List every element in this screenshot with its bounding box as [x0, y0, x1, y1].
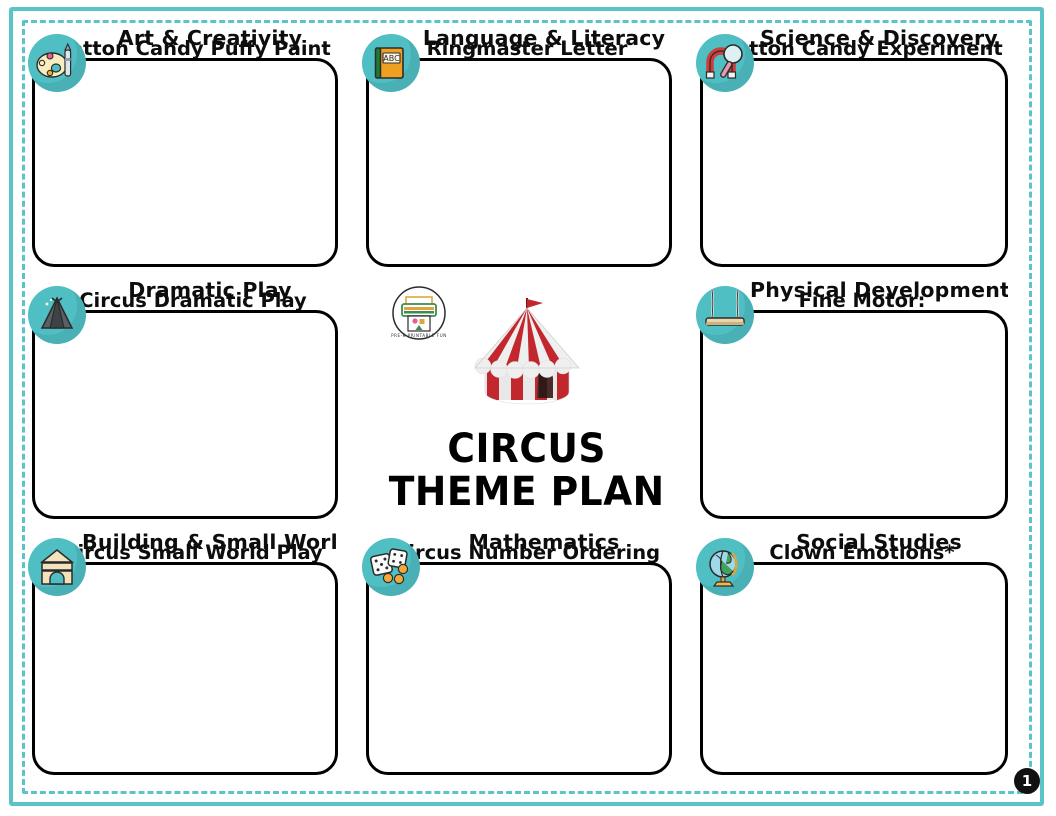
- card-frame: [32, 58, 338, 267]
- svg-text:ABC: ABC: [383, 54, 400, 63]
- card-mathematics[interactable]: Mathematics: [360, 532, 694, 788]
- card-building-small-world-play[interactable]: Building & Small World Play Circus Small…: [26, 532, 360, 788]
- card-title: Language & Literacy: [416, 26, 672, 50]
- circus-tent-icon: [461, 290, 593, 416]
- card-frame: [366, 562, 672, 775]
- page-number-badge: 1: [1014, 768, 1040, 794]
- card-frame: [700, 310, 1008, 519]
- paint-palette-icon: [28, 34, 86, 92]
- card-frame: [32, 310, 338, 519]
- card-title: Dramatic Play: [82, 278, 338, 302]
- page-title: CIRCUS THEME PLAN: [389, 428, 665, 514]
- card-title: Art & Creativity: [82, 26, 338, 50]
- card-dramatic-play[interactable]: Dramatic Play Circus Dramatic Play: [26, 280, 360, 532]
- building-blocks-icon: [28, 538, 86, 596]
- center-panel: PRE-K PRINTABLE FUN: [360, 280, 694, 532]
- teepee-tent-icon: [28, 286, 86, 344]
- dice-icon: [362, 538, 420, 596]
- card-frame: [366, 58, 672, 267]
- card-science-discovery[interactable]: Science & Discovery Cotton Candy Experim…: [694, 28, 1030, 280]
- subject-grid: Art & Creativity Cotton Candy Puffy Pain…: [26, 28, 1030, 788]
- card-title: Science & Discovery: [750, 26, 1008, 50]
- card-title: Mathematics: [416, 530, 672, 554]
- swing-icon: [696, 286, 754, 344]
- card-title: Physical Development: [750, 278, 1008, 302]
- abc-book-icon: ABC: [362, 34, 420, 92]
- card-language-literacy[interactable]: Language & Literacy ABC Ringmaster Lette…: [360, 28, 694, 280]
- card-title: Building & Small World Play: [82, 530, 338, 554]
- magnet-magnifier-icon: [696, 34, 754, 92]
- card-frame: [700, 58, 1008, 267]
- card-frame: [32, 562, 338, 775]
- card-social-studies[interactable]: Social Studies Clown Emotions*: [694, 532, 1030, 788]
- card-physical-development[interactable]: Physical Development Fine Motor: Jugglin…: [694, 280, 1030, 532]
- theme-plan-page: Art & Creativity Cotton Candy Puffy Pain…: [0, 0, 1056, 816]
- card-title: Social Studies: [750, 530, 1008, 554]
- card-frame: [700, 562, 1008, 775]
- globe-icon: [696, 538, 754, 596]
- card-art-creativity[interactable]: Art & Creativity Cotton Candy Puffy Pain…: [26, 28, 360, 280]
